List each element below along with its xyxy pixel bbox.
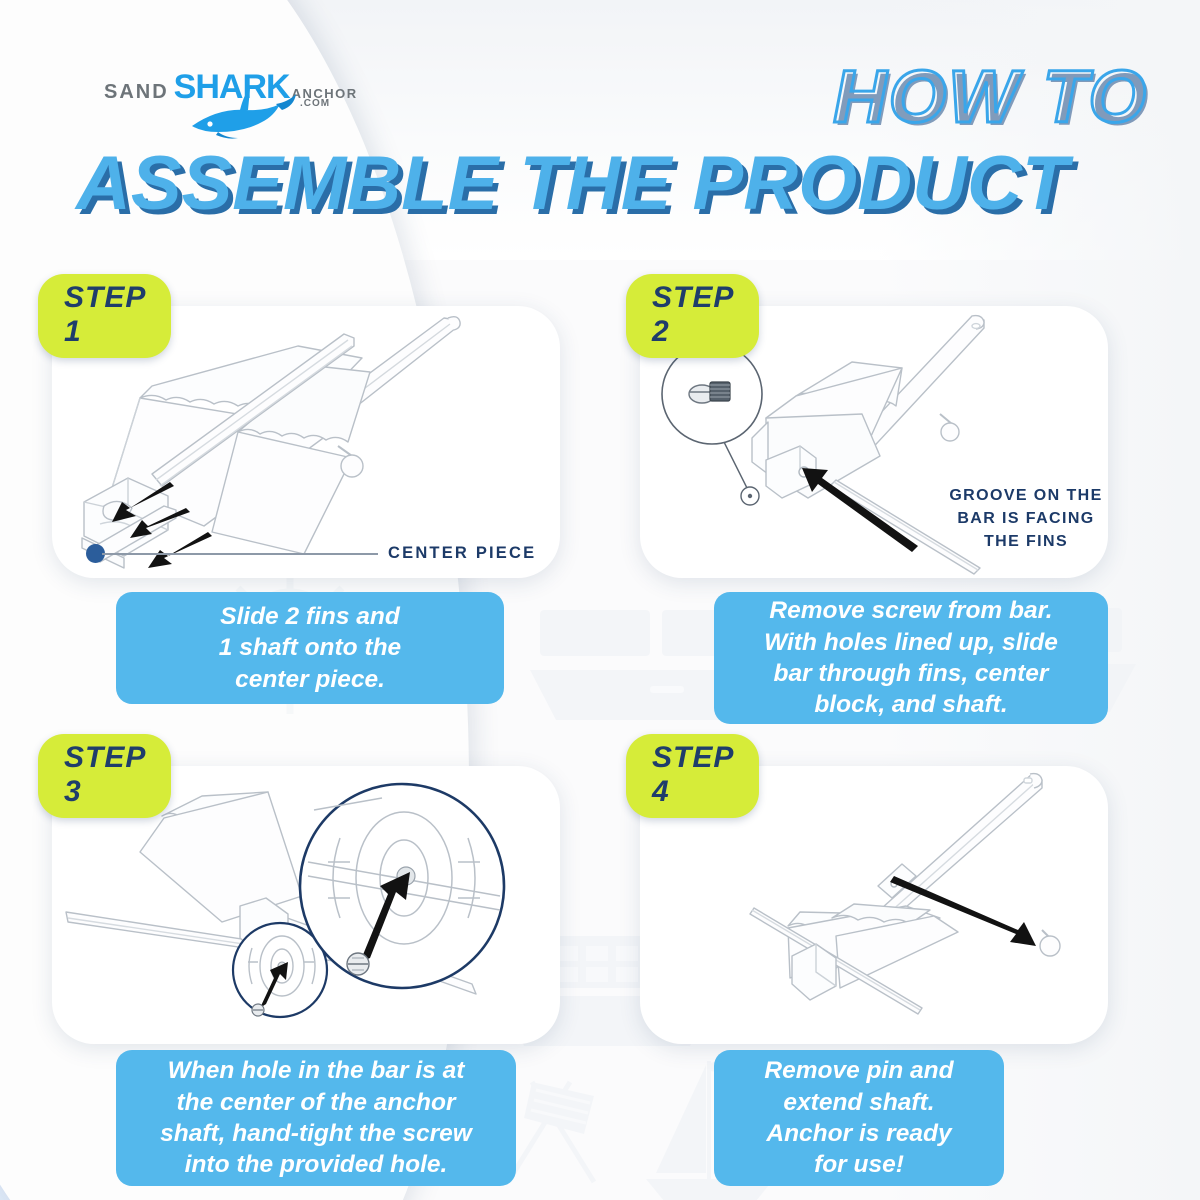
brand-logo[interactable]: SAND SHARK ANCHOR .COM xyxy=(104,68,354,126)
center-piece-leader-line xyxy=(102,553,378,555)
infographic-page: SAND SHARK ANCHOR .COM HOW TO ASSEMBLE T… xyxy=(0,0,1200,1200)
magnifier-large xyxy=(300,784,504,988)
step-caption-4: Remove pin and extend shaft. Anchor is r… xyxy=(714,1050,1004,1186)
center-piece-label: CENTER PIECE xyxy=(388,544,536,563)
step-badge-3: STEP 3 xyxy=(38,734,171,818)
shark-icon xyxy=(188,86,300,145)
logo-sand-text: SAND xyxy=(104,81,169,104)
step2-annotation: GROOVE ON THE BAR IS FACING THE FINS xyxy=(936,484,1108,554)
step-caption-1: Slide 2 fins and 1 shaft onto the center… xyxy=(116,592,504,704)
page-title-line1: HOW TO xyxy=(833,54,1148,139)
step-badge-2: STEP 2 xyxy=(626,274,759,358)
step-badge-1: STEP 1 xyxy=(38,274,171,358)
step-caption-3: When hole in the bar is at the center of… xyxy=(116,1050,516,1186)
step-caption-2: Remove screw from bar. With holes lined … xyxy=(714,592,1108,724)
step-badge-4: STEP 4 xyxy=(626,734,759,818)
logo-com-text: .COM xyxy=(300,98,330,109)
watermark-flags-icon xyxy=(498,1060,638,1190)
page-title-line2: ASSEMBLE THE PRODUCT xyxy=(76,140,1068,227)
